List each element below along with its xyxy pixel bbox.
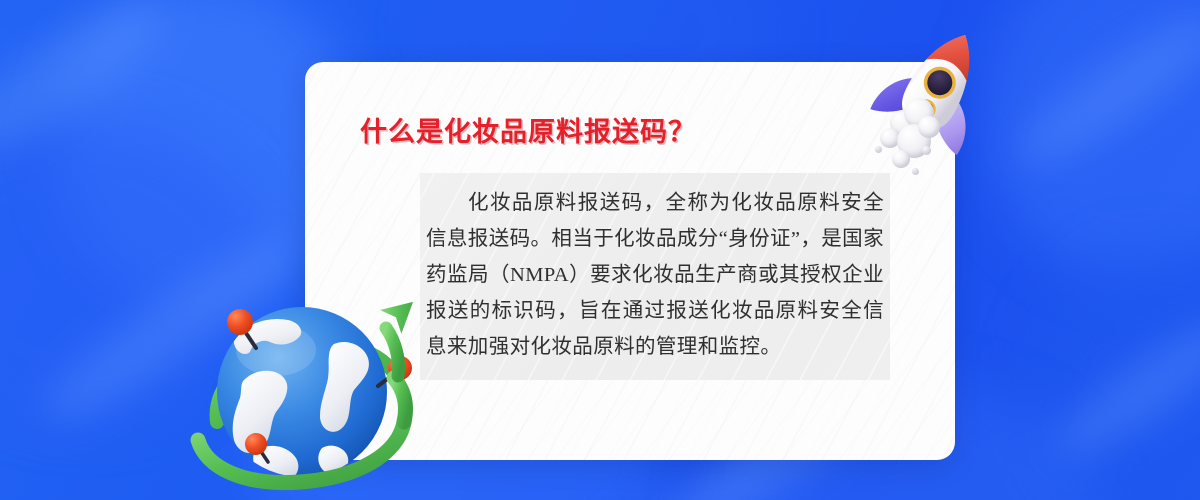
globe-orbit-arrow-tail: [394, 378, 406, 422]
rocket-illustration: [866, 18, 992, 188]
banner-stage: 什么是化妆品原料报送码？ 化妆品原料报送码，全称为化妆品原料安全信息报送码。相当…: [0, 0, 1200, 500]
description-text: 化妆品原料报送码，全称为化妆品原料安全信息报送码。相当于化妆品成分“身份证”，是…: [426, 185, 884, 365]
description-panel: 化妆品原料报送码，全称为化妆品原料安全信息报送码。相当于化妆品成分“身份证”，是…: [420, 173, 890, 380]
rocket-smoke-puff: [875, 146, 882, 153]
page-title: 什么是化妆品原料报送码？: [360, 110, 696, 149]
rocket-smoke-puff: [922, 146, 931, 155]
globe-illustration: [172, 272, 432, 500]
rocket-smoke-puff: [892, 150, 910, 168]
rocket-smoke-puff: [912, 168, 919, 175]
rocket-smoke-puff: [918, 116, 940, 138]
